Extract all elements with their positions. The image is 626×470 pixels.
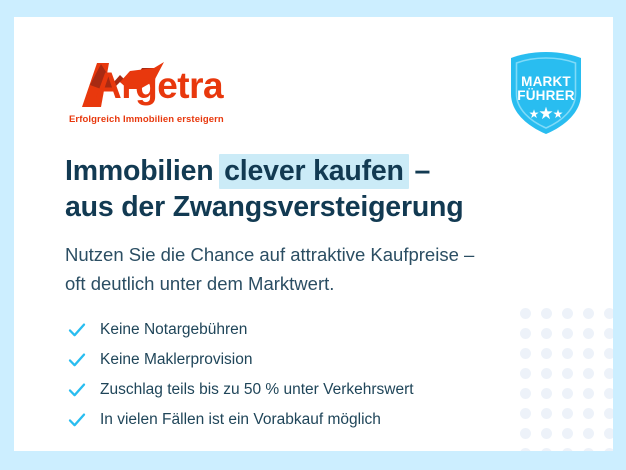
- decorative-dot: [604, 428, 613, 439]
- page-subtitle: Nutzen Sie die Chance auf attraktive Kau…: [65, 240, 545, 298]
- decorative-dot: [604, 388, 613, 399]
- decorative-dot: [541, 388, 552, 399]
- decorative-dot: [541, 448, 552, 451]
- list-item: Keine Notargebühren: [67, 315, 527, 345]
- logo-wordmark: Argetra: [95, 67, 223, 104]
- badge-line-1: MARKT: [503, 74, 589, 89]
- decorative-dot: [541, 348, 552, 359]
- market-leader-badge: MARKT FÜHRER ★★★: [503, 50, 589, 136]
- decorative-dot: [583, 368, 594, 379]
- badge-line-2: FÜHRER: [503, 88, 589, 103]
- headline-text-after: –: [407, 155, 430, 187]
- decorative-dot: [583, 308, 594, 319]
- decorative-dot: [562, 428, 573, 439]
- logo-tagline: Erfolgreich Immobilien ersteigern: [69, 114, 224, 125]
- decorative-dot: [583, 328, 594, 339]
- list-item-label: Keine Notargebühren: [100, 322, 247, 338]
- decorative-dot: [604, 368, 613, 379]
- check-icon: [67, 380, 87, 400]
- star-icon: ★: [538, 105, 553, 122]
- decorative-dot: [562, 308, 573, 319]
- decorative-dot: [562, 408, 573, 419]
- decorative-dot: [604, 408, 613, 419]
- decorative-dot: [520, 448, 531, 451]
- decorative-dot: [583, 388, 594, 399]
- decorative-dot: [604, 448, 613, 451]
- decorative-dot: [583, 348, 594, 359]
- list-item-label: In vielen Fällen ist ein Vorabkauf mögli…: [100, 412, 381, 428]
- star-icon: ★: [553, 108, 564, 120]
- argetra-logo: Argetra Erfolgreich Immobilien ersteiger…: [68, 59, 213, 127]
- decorative-dot: [583, 408, 594, 419]
- subtitle-line-2: oft deutlich unter dem Marktwert.: [65, 269, 545, 298]
- list-item: In vielen Fällen ist ein Vorabkauf mögli…: [67, 405, 527, 435]
- check-icon: [67, 410, 87, 430]
- headline-line-1: Immobilien clever kaufen –: [65, 153, 535, 189]
- decorative-dot: [604, 308, 613, 319]
- decorative-dot: [562, 448, 573, 451]
- decorative-dot: [562, 328, 573, 339]
- benefit-list: Keine NotargebührenKeine Maklerprovision…: [67, 315, 527, 435]
- list-item: Keine Maklerprovision: [67, 345, 527, 375]
- decorative-dot: [562, 348, 573, 359]
- list-item-label: Zuschlag teils bis zu 50 % unter Verkehr…: [100, 382, 414, 398]
- headline-highlight: clever kaufen: [219, 154, 409, 189]
- headline-text-before: Immobilien: [65, 155, 221, 187]
- decorative-dot: [604, 328, 613, 339]
- decorative-dot: [541, 408, 552, 419]
- banner-card: Argetra Erfolgreich Immobilien ersteiger…: [14, 17, 613, 451]
- headline-line-2: aus der Zwangsversteigerung: [65, 189, 535, 225]
- decorative-dot: [583, 448, 594, 451]
- decorative-dot: [541, 368, 552, 379]
- decorative-dot-grid: [520, 308, 613, 451]
- subtitle-line-1: Nutzen Sie die Chance auf attraktive Kau…: [65, 240, 545, 269]
- decorative-dot: [541, 428, 552, 439]
- decorative-dot: [541, 328, 552, 339]
- decorative-dot: [541, 308, 552, 319]
- list-item: Zuschlag teils bis zu 50 % unter Verkehr…: [67, 375, 527, 405]
- list-item-label: Keine Maklerprovision: [100, 352, 253, 368]
- decorative-dot: [604, 348, 613, 359]
- decorative-dot: [562, 368, 573, 379]
- decorative-dot: [583, 428, 594, 439]
- badge-stars: ★★★: [503, 105, 589, 122]
- decorative-dot: [562, 388, 573, 399]
- check-icon: [67, 320, 87, 340]
- promo-banner: Argetra Erfolgreich Immobilien ersteiger…: [0, 0, 626, 470]
- check-icon: [67, 350, 87, 370]
- page-title: Immobilien clever kaufen – aus der Zwang…: [65, 153, 535, 225]
